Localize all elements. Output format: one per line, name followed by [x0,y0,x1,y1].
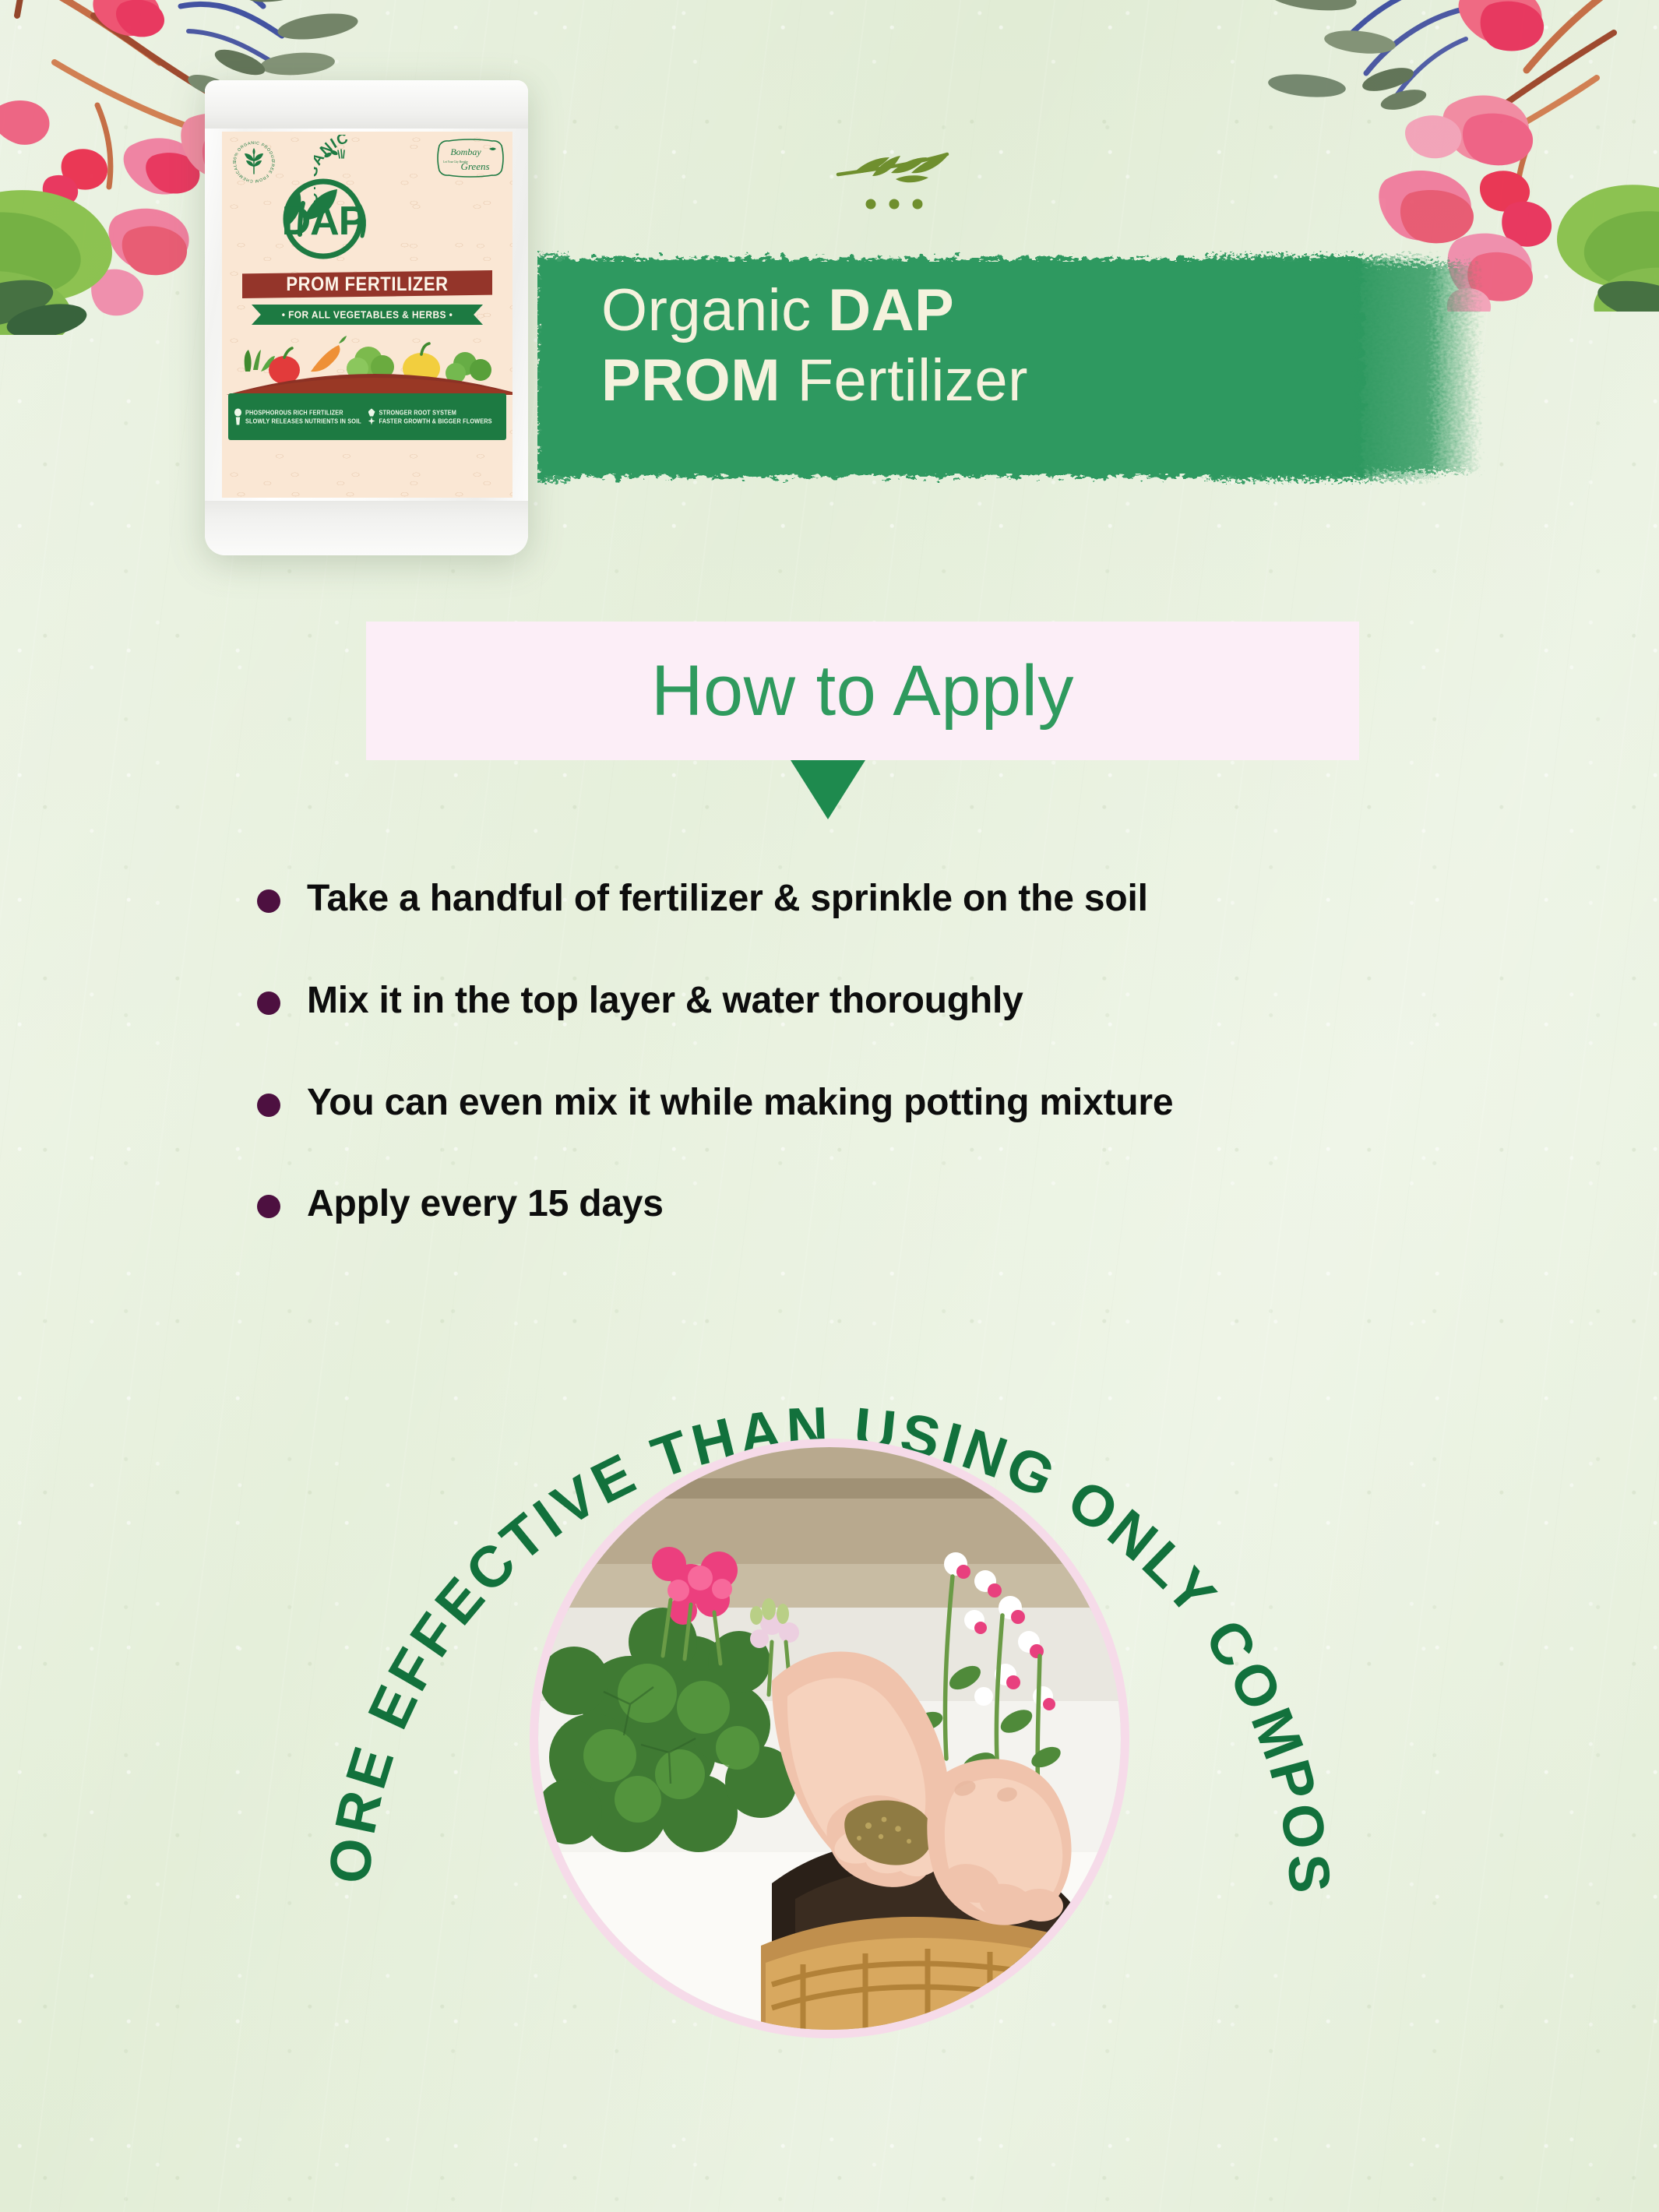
prom-fertilizer-ribbon: PROM FERTILIZER [242,270,492,298]
planting-photo-illustration [538,1447,1121,2030]
package-feature-strip: PHOSPHOROUS RICH FERTILIZER STRONGER ROO… [228,393,506,440]
application-steps-list: Take a handful of fertilizer & sprinkle … [257,879,1503,1286]
bullet-dot-icon [257,1195,280,1218]
phosphorous-icon [234,408,241,416]
package-front-label: 100% ORGANIC PRODUCT FREE FROM CHEMICALS… [222,132,512,498]
vegetables-soil-illustration [227,326,512,395]
headline-word-fertilizer: Fertilizer [780,347,1028,414]
leaf-sprig-ornament-icon [824,134,964,212]
brand-subtext: Let Your City Breathe [443,160,468,164]
feature-label-3: SLOWLY RELEASES NUTRIENTS IN SOIL [245,417,361,424]
feature-label-1: PHOSPHOROUS RICH FERTILIZER [245,408,343,416]
list-item: Mix it in the top layer & water thorough… [257,981,1503,1022]
list-item: Take a handful of fertilizer & sprinkle … [257,879,1503,920]
feature-item: STRONGER ROOT SYSTEM [368,408,501,416]
list-item: You can even mix it while making potting… [257,1083,1503,1124]
photo-ring-border [530,1439,1129,2038]
step-text: You can even mix it while making potting… [307,1083,1173,1124]
feature-label-4: FASTER GROWTH & BIGGER FLOWERS [379,417,492,424]
list-item: Apply every 15 days [257,1184,1503,1225]
feature-item: SLOWLY RELEASES NUTRIENTS IN SOIL [234,417,367,424]
package-bottom-seal [205,501,528,555]
feature-item: FASTER GROWTH & BIGGER FLOWERS [368,417,501,424]
step-text: Take a handful of fertilizer & sprinkle … [307,879,1148,920]
headline-line-2: PROM Fertilizer [601,346,1302,416]
step-text: Apply every 15 days [307,1184,664,1225]
feature-label-2: STRONGER ROOT SYSTEM [379,408,457,416]
for-all-vegetables-label: • FOR ALL VEGETABLES & HERBS • [282,308,453,320]
package-top-seal [205,80,528,129]
down-arrow-icon [791,760,865,819]
growth-flowers-icon [368,417,375,424]
prom-ribbon-label: PROM FERTILIZER [286,273,448,295]
how-to-apply-banner: How to Apply [366,622,1359,760]
step-text: Mix it in the top layer & water thorough… [307,981,1023,1022]
headline-banner: Organic DAP PROM Fertilizer [537,251,1511,484]
headline-line-1: Organic DAP [601,276,1302,346]
headline-word-prom: PROM [601,347,780,414]
brand-line-1: Bombay [450,146,481,157]
root-system-icon [368,408,375,416]
dap-main-label: DAP [282,199,365,244]
headline-text: Organic DAP PROM Fertilizer [601,276,1302,415]
planting-photo [538,1447,1121,2030]
feature-item: PHOSPHOROUS RICH FERTILIZER [234,408,367,416]
bullet-dot-icon [257,992,280,1015]
brand-logo-bombay-greens: Bombay Greens Let Your City Breathe [435,138,506,178]
for-all-vegetables-banner: • FOR ALL VEGETABLES & HERBS • [252,305,483,325]
headline-word-organic: Organic [601,277,828,343]
circular-photo-section: MORE EFFECTIVE THAN USING ONLY COMPOST [276,1316,1382,2212]
bullet-dot-icon [257,889,280,913]
bullet-dot-icon [257,1094,280,1117]
product-package-image: 100% ORGANIC PRODUCT FREE FROM CHEMICALS… [205,80,528,555]
headline-word-dap: DAP [828,277,954,343]
how-to-apply-title: How to Apply [651,650,1074,732]
slow-release-icon [234,417,241,424]
dap-logo: DAP [252,153,392,262]
